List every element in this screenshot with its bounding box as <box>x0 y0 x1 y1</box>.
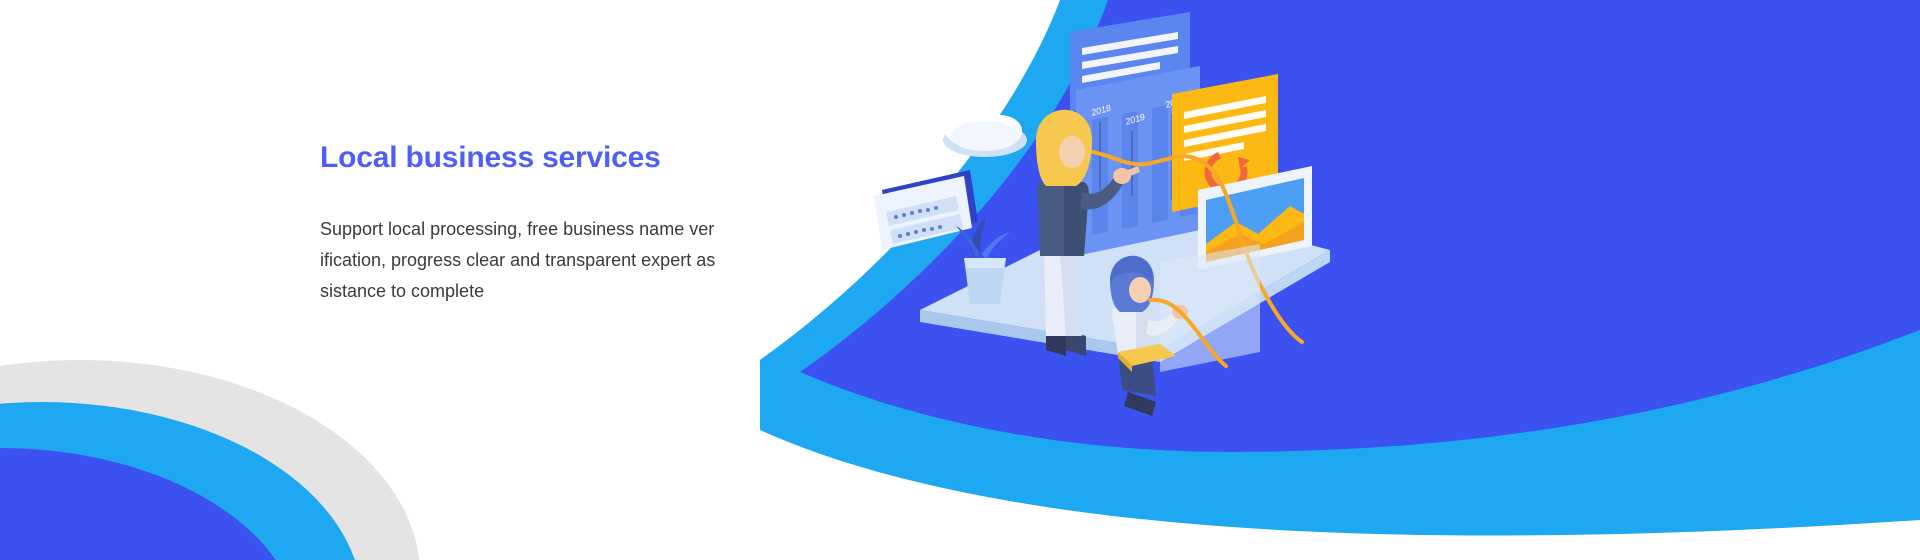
login-card <box>874 170 978 250</box>
hero-copy: Local business services Support local pr… <box>320 140 720 307</box>
illustration-svg: 2018 2019 2020 2021 <box>860 0 1420 460</box>
page-title: Local business services <box>320 140 720 176</box>
cloud-icon <box>943 107 1027 157</box>
hero-illustration: 2018 2019 2020 2021 <box>860 0 1420 460</box>
hero-banner: Local business services Support local pr… <box>0 0 1920 560</box>
page-description: Support local processing, free business … <box>320 214 718 307</box>
corner-arc-decoration <box>0 360 420 560</box>
